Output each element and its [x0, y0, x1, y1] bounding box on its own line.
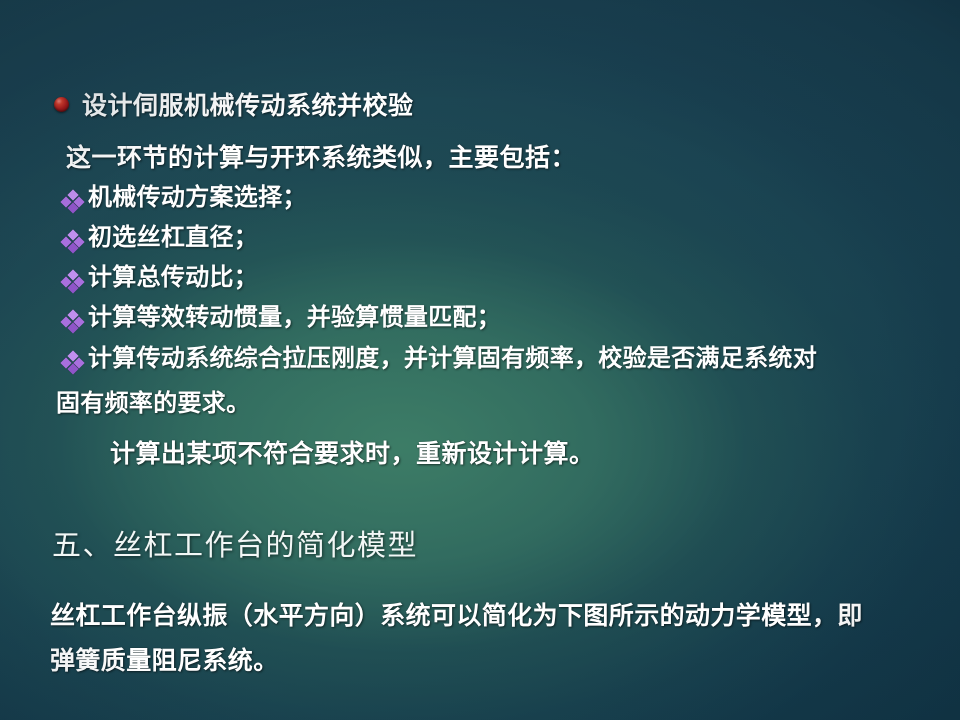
paragraph-line-2: 弹簧质量阻尼系统。 — [50, 641, 279, 677]
red-sphere-bullet-icon — [54, 97, 69, 112]
intro-line: 这一环节的计算与开环系统类似，主要包括： — [66, 138, 576, 174]
bullet-item-5-continuation: 固有频率的要求。 — [56, 383, 250, 418]
bullet-item-2: 初选丝杠直径； — [62, 224, 258, 252]
paragraph-line-1: 丝杠工作台纵振（水平方向）系统可以简化为下图所示的动力学模型，即 — [50, 596, 863, 632]
bullet-item-4-label: 计算等效转动惯量，并验算惯量匹配； — [88, 304, 501, 332]
slide-content-layer: 设计伺服机械传动系统并校验 这一环节的计算与开环系统类似，主要包括： 机械传动方… — [0, 0, 960, 720]
bullet-item-1: 机械传动方案选择； — [62, 184, 307, 212]
bullet-item-5: 计算传动系统综合拉压刚度，并计算固有频率，校验是否满足系统对 — [62, 345, 817, 373]
diamond-cluster-icon — [62, 191, 83, 212]
bullet-item-2-label: 初选丝杠直径； — [88, 224, 258, 252]
diamond-cluster-icon — [62, 271, 83, 292]
bullet-item-3: 计算总传动比； — [62, 264, 258, 292]
slide-title-row: 设计伺服机械传动系统并校验 — [54, 86, 414, 122]
diamond-cluster-icon — [62, 311, 83, 332]
slide-title: 设计伺服机械传动系统并校验 — [82, 86, 414, 122]
bullet-item-3-label: 计算总传动比； — [88, 264, 258, 292]
bullet-item-5-label: 计算传动系统综合拉压刚度，并计算固有频率，校验是否满足系统对 — [88, 345, 817, 373]
section-heading: 五、丝杠工作台的简化模型 — [52, 522, 418, 564]
diamond-cluster-icon — [62, 231, 83, 252]
presentation-slide: 设计伺服机械传动系统并校验 这一环节的计算与开环系统类似，主要包括： 机械传动方… — [0, 0, 960, 720]
diamond-cluster-icon — [62, 352, 83, 373]
bullet-item-4: 计算等效转动惯量，并验算惯量匹配； — [62, 304, 501, 332]
conclusion-line: 计算出某项不符合要求时，重新设计计算。 — [110, 434, 595, 470]
bullet-item-1-label: 机械传动方案选择； — [88, 184, 307, 212]
